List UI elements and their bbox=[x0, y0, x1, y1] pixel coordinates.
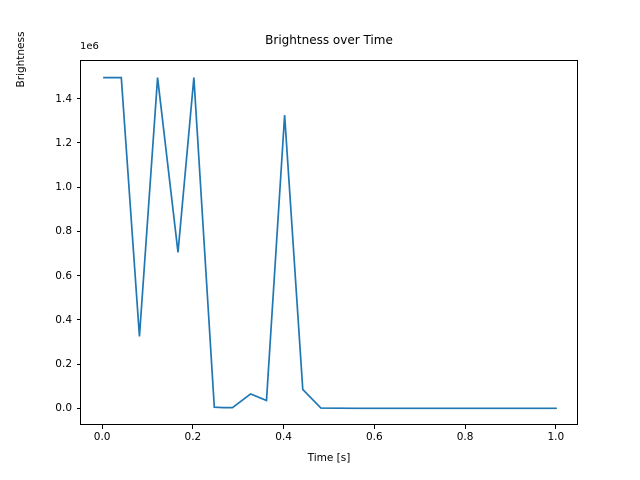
y-tick-label: 0.8 bbox=[28, 224, 72, 238]
x-tick-label: 1.0 bbox=[531, 431, 581, 443]
brightness-line bbox=[103, 78, 557, 409]
y-tick-label: 0.0 bbox=[28, 401, 72, 415]
matplotlib-figure: 1e6 Brightness over Time Brightness 0.00… bbox=[0, 0, 640, 480]
x-tick-mark bbox=[192, 425, 193, 429]
y-tick-label: 1.4 bbox=[28, 92, 72, 106]
x-tick-label: 0.0 bbox=[77, 431, 127, 443]
x-tick-mark bbox=[465, 425, 466, 429]
x-tick-label: 0.6 bbox=[349, 431, 399, 443]
line-series-svg bbox=[81, 61, 579, 426]
x-tick-label: 0.8 bbox=[440, 431, 490, 443]
y-axis-label: Brightness bbox=[14, 0, 28, 242]
y-tick-mark bbox=[77, 187, 81, 188]
y-tick-label: 0.4 bbox=[28, 313, 72, 327]
plot-area bbox=[80, 60, 578, 425]
y-tick-mark bbox=[77, 275, 81, 276]
chart-title: Brightness over Time bbox=[80, 32, 578, 48]
x-tick-label: 0.4 bbox=[259, 431, 309, 443]
y-tick-label: 0.6 bbox=[28, 269, 72, 283]
x-tick-mark bbox=[283, 425, 284, 429]
y-tick-label: 0.2 bbox=[28, 357, 72, 371]
x-tick-mark bbox=[102, 425, 103, 429]
y-tick-mark bbox=[77, 142, 81, 143]
y-tick-label: 1.2 bbox=[28, 136, 72, 150]
x-tick-label: 0.2 bbox=[168, 431, 218, 443]
y-tick-label: 1.0 bbox=[28, 180, 72, 194]
y-tick-mark bbox=[77, 408, 81, 409]
y-tick-mark bbox=[77, 231, 81, 232]
x-tick-mark bbox=[555, 425, 556, 429]
y-tick-mark bbox=[77, 364, 81, 365]
y-tick-mark bbox=[77, 98, 81, 99]
x-tick-mark bbox=[374, 425, 375, 429]
y-tick-mark bbox=[77, 319, 81, 320]
x-axis-label: Time [s] bbox=[80, 452, 578, 464]
